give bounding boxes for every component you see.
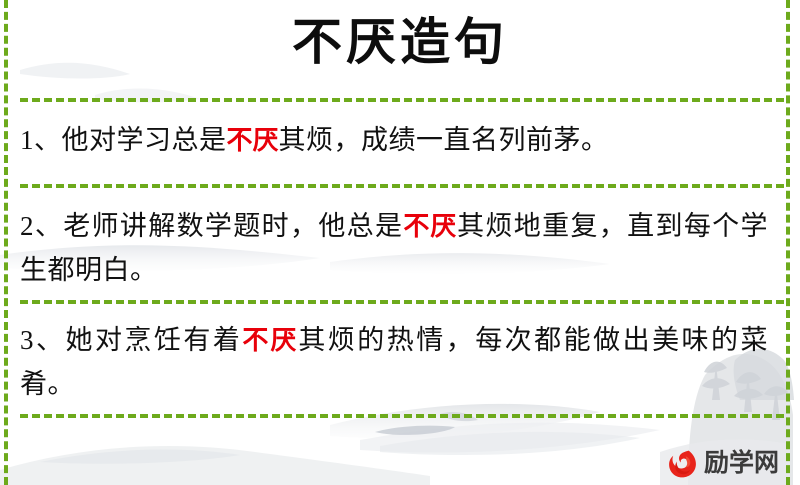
idiom-highlight-3: 不厌 — [242, 325, 298, 355]
sentence-item-1: 1、他对学习总是不厌其烦，成绩一直名列前茅。 — [20, 118, 768, 162]
sentence-text-before-2: 老师讲解数学题时，他总是 — [63, 211, 403, 241]
divider-3 — [20, 300, 784, 304]
divider-1 — [20, 98, 784, 102]
page-title: 不厌造句 — [0, 9, 800, 75]
brand-name-label: 励学网 — [704, 447, 779, 480]
left-dashed-border — [4, 0, 8, 485]
slide-page: 不厌造句 1、他对学习总是不厌其烦，成绩一直名列前茅。 2、老师讲解数学题时，他… — [0, 0, 800, 485]
sentence-text-before-3: 她对烹饪有着 — [65, 325, 242, 355]
sentence-item-3: 3、她对烹饪有着不厌其烦的热情，每次都能做出美味的菜肴。 — [20, 318, 768, 406]
right-dashed-border — [786, 0, 790, 485]
sentence-number-2: 2、 — [20, 211, 63, 241]
divider-4 — [20, 414, 784, 418]
brand-watermark: 励学网 — [666, 445, 779, 481]
sentence-number-1: 1、 — [20, 125, 62, 155]
idiom-highlight-1: 不厌 — [227, 125, 279, 155]
flame-swirl-icon — [666, 447, 699, 480]
divider-2 — [20, 184, 784, 188]
idiom-highlight-2: 不厌 — [403, 211, 457, 241]
sentence-text-after-1: 其烦，成绩一直名列前茅。 — [279, 125, 609, 155]
sentence-item-2: 2、老师讲解数学题时，他总是不厌其烦地重复，直到每个学生都明白。 — [20, 204, 768, 292]
sentence-number-3: 3、 — [20, 325, 65, 355]
content-area: 不厌造句 1、他对学习总是不厌其烦，成绩一直名列前茅。 2、老师讲解数学题时，他… — [0, 0, 800, 485]
sentence-text-before-1: 他对学习总是 — [62, 125, 227, 155]
